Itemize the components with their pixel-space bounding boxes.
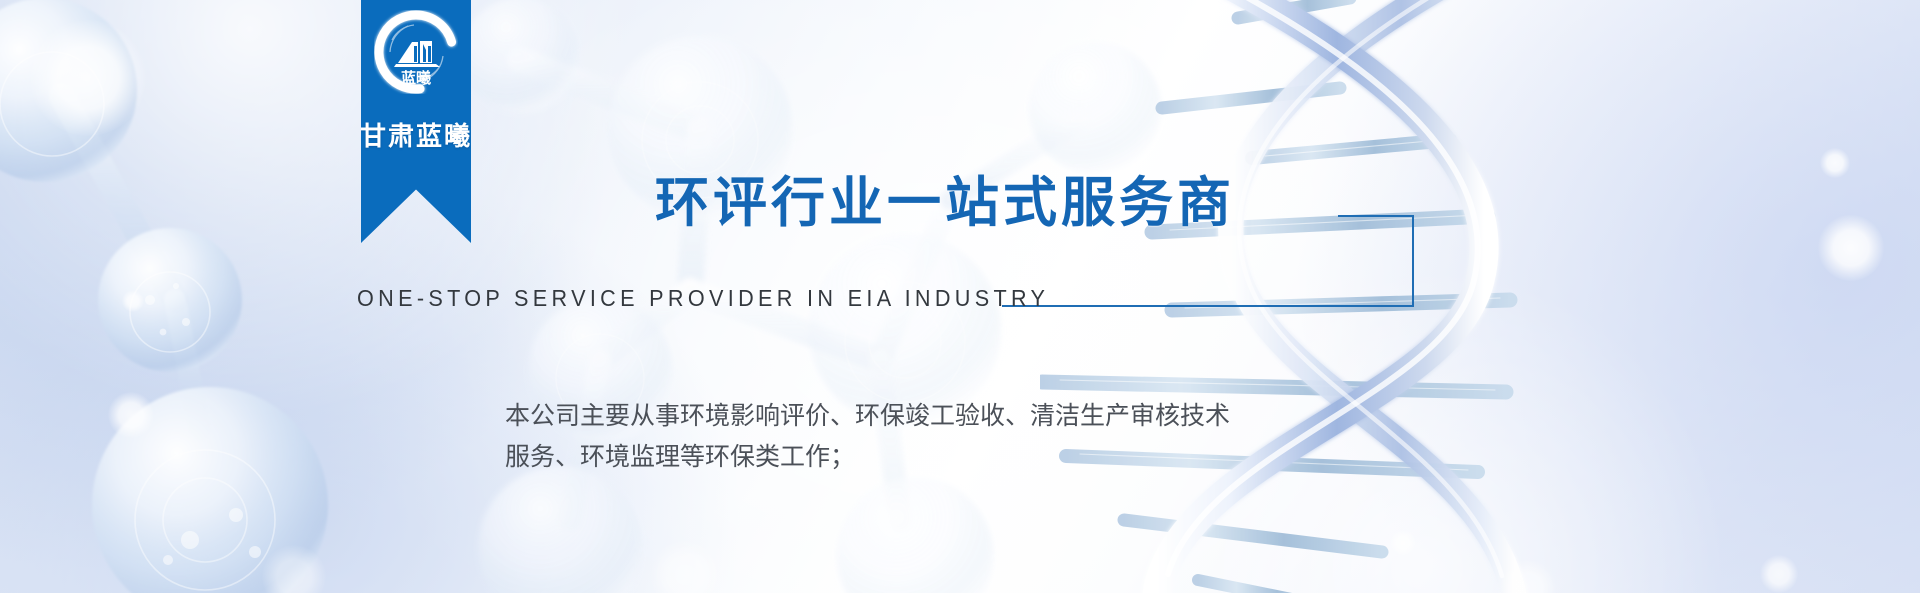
accent-rule-top <box>1338 215 1414 217</box>
bokeh-light <box>262 545 326 593</box>
dna-helix-artwork <box>1040 0 1680 593</box>
logo-svg: 蓝曦 <box>374 10 458 94</box>
accent-rule-bottom <box>1002 305 1414 307</box>
logo-wordmark: 蓝曦 <box>401 69 431 87</box>
bokeh-light <box>1500 560 1556 593</box>
accent-rule-right <box>1412 215 1414 307</box>
bokeh-light <box>1760 555 1798 593</box>
hero-banner: 蓝曦 甘肃蓝曦 环评行业一站式服务商 ONE-STOP SERVICE PROV… <box>0 0 1920 593</box>
bokeh-light <box>30 20 146 136</box>
company-badge-inner: 蓝曦 甘肃蓝曦 <box>361 0 471 243</box>
intro-paragraph: 本公司主要从事环境影响评价、环保竣工验收、清洁生产审核技术 服务、环境监理等环保… <box>505 396 1305 477</box>
company-name: 甘肃蓝曦 <box>360 116 472 153</box>
bokeh-light <box>122 290 144 312</box>
bokeh-light <box>1820 148 1850 178</box>
bokeh-light <box>1818 215 1884 281</box>
bokeh-light <box>108 392 154 438</box>
page-title: 环评行业一站式服务商 <box>655 158 1235 237</box>
dna-svg <box>1040 0 1680 593</box>
bokeh-light <box>650 540 720 593</box>
intro-line: 本公司主要从事环境影响评价、环保竣工验收、清洁生产审核技术 <box>505 396 1305 437</box>
page-subtitle: ONE-STOP SERVICE PROVIDER IN EIA INDUSTR… <box>357 285 1049 312</box>
lanxi-circle-emblem-icon: 蓝曦 <box>374 10 458 94</box>
bokeh-light <box>1390 530 1416 556</box>
company-badge[interactable]: 蓝曦 甘肃蓝曦 <box>361 0 471 243</box>
intro-line: 服务、环境监理等环保类工作； <box>505 437 1305 478</box>
